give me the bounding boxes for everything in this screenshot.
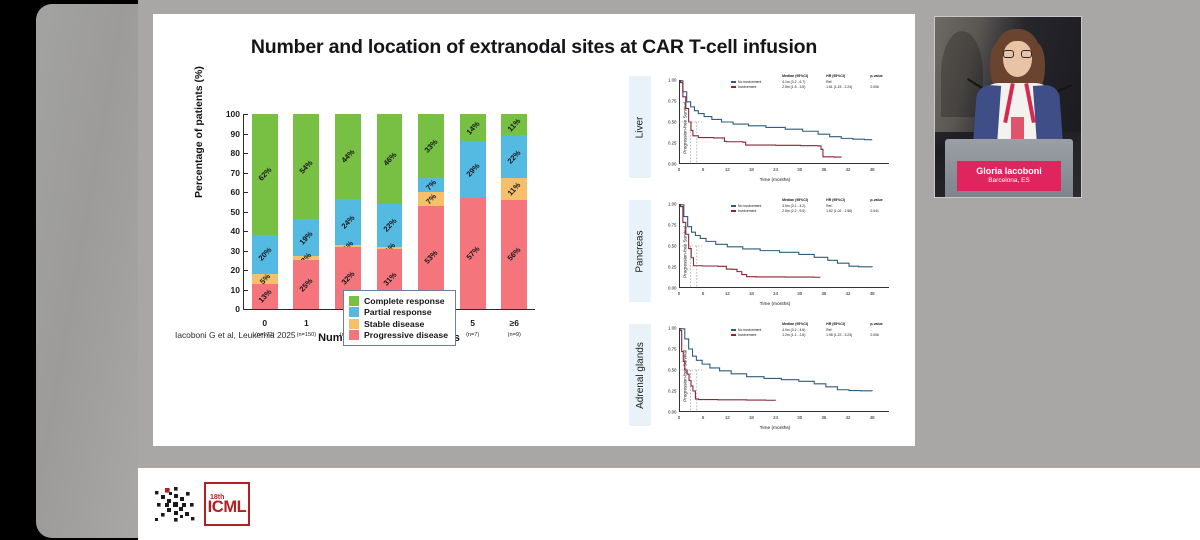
bar-segment-label: 14% [464,119,481,136]
km-x-axis-label: Time (months) [653,426,897,431]
km-stats-row: Involvement2.5m (2.2 - 9.0)1.62 (1.02 - … [731,209,893,214]
bar-column: 11%22%11%56%≥6(n=9) [493,114,535,309]
stacked-bar: 14%29%57% [460,114,486,309]
category-label: 5 [470,318,475,328]
bar-segment-label: 29% [464,161,481,178]
km-stats-cell: 0.006 [870,85,893,90]
icml-logo: 18th ICML [152,478,252,530]
km-x-tick: 24 [773,164,778,172]
bar-column: 33%7%7%53%4(n=15) [410,114,452,309]
bar-segment-label: 44% [339,148,356,165]
bar-column: 46%22%1%31%3(n=95) [369,114,411,309]
bar-chart-y-tick: 30 [231,246,244,256]
legend-label: Progressive disease [364,330,448,340]
km-curve-involvement [679,204,820,277]
bar-chart-y-axis-label: Percentage of patients (%) [193,66,205,198]
bar-segment-label: 22% [506,148,523,165]
bar-segment-label: 24% [339,213,356,230]
speaker-location: Barcelona, ES [988,177,1030,185]
category-label: 1 [304,318,309,328]
bar-segment: 29% [460,141,486,198]
km-stats-cell: 2.5m (2.2 - 9.0) [782,209,826,214]
km-x-tick: 24 [773,288,778,296]
bar-segment-label: 20% [256,246,273,263]
legend-swatch-icon [349,296,359,306]
starburst-icon [152,482,198,526]
bottom-strip [138,468,1200,540]
bar-segment: 54% [293,114,319,219]
km-y-tick: 0.50 [668,368,679,373]
bar-column: 14%29%57%5(n=7) [452,114,494,309]
km-x-tick: 6 [702,412,704,420]
bar-segment-label: 7% [424,192,438,206]
bar-chart-y-tick: 40 [231,226,244,236]
km-stats-cell: 0.041 [870,209,893,214]
stacked-bar: 33%7%7%53% [418,114,444,309]
km-stats-table: Median (95%CI)HR (95%CI)p-valueNo involv… [731,74,893,89]
screen: Number and location of extranodal sites … [0,0,1200,540]
bar-chart-y-tick: 100 [226,109,244,119]
legend-item: Partial response [349,307,448,319]
km-x-tick: 30 [797,412,802,420]
km-curve-no-involvement [679,328,872,391]
icml-name: ICML [208,499,247,516]
stacked-bar: 44%24%1%32% [335,114,361,309]
km-x-tick: 30 [797,164,802,172]
legend-item: Stable disease [349,318,448,330]
km-group-key: Involvement [731,333,782,338]
km-chart: Progression-free Survival0.000.250.500.7… [653,194,897,310]
bar-segment: 44% [335,114,361,199]
bar-segment: 14% [460,114,486,141]
bar-chart-y-tick: 10 [231,285,244,295]
km-x-axis-label: Time (months) [653,302,897,307]
km-panels: LiverProgression-free Survival0.000.250.… [629,70,897,442]
km-x-tick: 0 [678,164,680,172]
km-panel: PancreasProgression-free Survival0.000.2… [629,194,897,310]
km-x-tick: 12 [725,412,730,420]
bar-chart-y-tick: 60 [231,187,244,197]
km-stats-cell: 2.5m (1.5 - 3.5) [782,85,826,90]
km-curves [679,204,889,288]
speaker-face [1003,41,1032,77]
bar-segment-label: 31% [381,270,398,287]
km-group-key: Involvement [731,85,782,90]
km-x-tick: 42 [846,164,851,172]
km-site-tab: Adrenal glands [629,324,651,426]
km-x-tick: 0 [678,412,680,420]
km-stats-table: Median (95%CI)HR (95%CI)p-valueNo involv… [731,322,893,337]
bar-segment-label: 11% [506,181,523,198]
bar-segment-label: 7% [424,178,438,192]
bar-segment-label: 33% [423,138,440,155]
km-stats-cell: 1.62 (1.02 - 2.56) [826,209,870,214]
km-stats-cell: 1.2m (1.1 - 2.6) [782,333,826,338]
km-x-tick: 12 [725,164,730,172]
km-y-tick: 0.50 [668,120,679,125]
km-curve-involvement [679,80,841,157]
speaker-video-panel[interactable]: Gloria Iacoboni Barcelona, ES [934,16,1082,198]
km-curves [679,80,889,164]
bar-segment: 56% [501,200,527,309]
bar-segment: 7% [418,192,444,206]
km-curve-no-involvement [679,204,872,267]
bar-chart-y-tick: 20 [231,265,244,275]
bar-segment: 62% [252,114,278,235]
legend-item: Complete response [349,295,448,307]
bar-segment: 33% [418,114,444,178]
chart-legend: Complete responsePartial responseStable … [343,290,456,346]
bar-segment-label: 53% [423,249,440,266]
km-x-tick: 42 [846,412,851,420]
km-y-tick: 1.00 [668,326,679,331]
km-x-tick: 12 [725,288,730,296]
stacked-bar: 54%19%2%25% [293,114,319,309]
km-x-tick: 36 [821,288,826,296]
bar-segment-label: 25% [298,276,315,293]
bar-segment: 11% [501,114,527,135]
bar-segment-label: 11% [506,116,523,133]
km-x-tick: 18 [749,288,754,296]
bar-chart-plot-area: 0102030405060708090100 62%20%5%13%0(n=17… [243,114,535,310]
km-x-tick: 36 [821,164,826,172]
km-group-key: Involvement [731,209,782,214]
bar-segment: 46% [377,114,403,204]
speaker-nameplate: Gloria Iacoboni Barcelona, ES [957,161,1061,191]
bar-segment-label: 62% [256,166,273,183]
km-panel: LiverProgression-free Survival0.000.250.… [629,70,897,186]
km-x-tick: 48 [870,164,875,172]
km-stats-table: Median (95%CI)HR (95%CI)p-valueNo involv… [731,198,893,213]
slide-title: Number and location of extranodal sites … [153,36,915,59]
legend-label: Complete response [364,296,445,306]
citation: Iacoboni G et al, Leukemia 2025 [175,330,296,340]
stacked-bar: 11%22%11%56% [501,114,527,309]
bar-segment-label: 56% [506,246,523,263]
km-x-axis-label: Time (months) [653,178,897,183]
category-label: ≥6 [510,318,519,328]
bar-segment: 57% [460,198,486,309]
km-plot-area: 0.000.250.500.751.000612182430364248 [679,80,889,164]
bar-segment: 22% [501,135,527,178]
km-curves [679,328,889,412]
km-y-tick: 0.25 [668,389,679,394]
bar-chart-y-tick: 0 [235,304,244,314]
speaker-badge [1011,117,1024,139]
km-plot-area: 0.000.250.500.751.000612182430364248 [679,328,889,412]
stacked-bar: 46%22%1%31% [377,114,403,309]
glasses-icon [1003,50,1032,58]
km-x-tick: 18 [749,412,754,420]
icml-wordmark: 18th ICML [204,482,250,526]
km-panel: Adrenal glandsProgression-free Survival0… [629,318,897,434]
km-site-label: Pancreas [635,230,646,272]
km-y-tick: 1.00 [668,78,679,83]
km-chart: Progression-free Survival0.000.250.500.7… [653,318,897,434]
bar-column: 54%19%2%25%1(n=150) [286,114,328,309]
legend-label: Stable disease [364,319,424,329]
km-x-tick: 18 [749,164,754,172]
category-label: 0 [262,318,267,328]
km-stats-row: Involvement1.2m (1.1 - 2.6)1.98 (1.22 - … [731,333,893,338]
bar-column: 44%24%1%32%2(n=41) [327,114,369,309]
bar-segment-label: 54% [298,158,315,175]
bar-chart-y-tick: 50 [231,207,244,217]
km-x-tick: 36 [821,412,826,420]
km-stats-cell: 1.61 (1.15 - 2.24) [826,85,870,90]
bar-segment: 13% [252,284,278,309]
km-x-tick: 30 [797,288,802,296]
km-site-label: Liver [635,116,646,138]
bar-segment-label: 13% [256,288,273,305]
km-x-tick: 6 [702,164,704,172]
km-plot-area: 0.000.250.500.751.000612182430364248 [679,204,889,288]
legend-item: Progressive disease [349,330,448,342]
km-x-tick: 24 [773,412,778,420]
bar-segment: 5% [252,274,278,284]
km-y-tick: 0.75 [668,347,679,352]
km-x-tick: 42 [846,288,851,296]
km-stats-cell: 1.98 (1.22 - 3.23) [826,333,870,338]
km-y-tick: 1.00 [668,202,679,207]
bar-chart-y-tick: 70 [231,168,244,178]
bar-chart-bars: 62%20%5%13%0(n=172)54%19%2%25%1(n=150)44… [244,114,535,309]
km-curve-involvement [679,328,776,400]
km-x-tick: 0 [678,288,680,296]
bar-chart-y-tick: 80 [231,148,244,158]
slide: Number and location of extranodal sites … [153,14,915,446]
km-stats-row: Involvement2.5m (1.5 - 3.5)1.61 (1.15 - … [731,85,893,90]
km-site-label: Adrenal glands [635,342,646,409]
stacked-bar: 62%20%5%13% [252,114,278,309]
km-y-tick: 0.25 [668,141,679,146]
bar-segment: 25% [293,260,319,309]
legend-swatch-icon [349,330,359,340]
bar-segment-label: 19% [298,229,315,246]
km-site-tab: Liver [629,76,651,178]
km-y-tick: 0.75 [668,223,679,228]
bar-segment: 7% [418,178,444,192]
speaker-name: Gloria Iacoboni [976,167,1042,177]
bar-segment-label: 32% [339,269,356,286]
km-x-tick: 6 [702,288,704,296]
bar-segment: 11% [501,178,527,199]
legend-swatch-icon [349,307,359,317]
km-stats-cell: 0.006 [870,333,893,338]
km-x-tick: 48 [870,412,875,420]
bar-segment-label: 22% [381,216,398,233]
bar-chart-y-tick: 90 [231,129,244,139]
legend-label: Partial response [364,307,432,317]
legend-swatch-icon [349,319,359,329]
bar-segment-label: 46% [381,150,398,167]
km-y-tick: 0.50 [668,244,679,249]
km-y-tick: 0.25 [668,265,679,270]
bar-segment: 20% [252,235,278,274]
left-rail [36,4,138,538]
km-y-tick: 0.75 [668,99,679,104]
km-site-tab: Pancreas [629,200,651,302]
km-x-tick: 48 [870,288,875,296]
bar-segment-label: 57% [464,245,481,262]
bar-column: 62%20%5%13%0(n=172) [244,114,286,309]
km-chart: Progression-free Survival0.000.250.500.7… [653,70,897,186]
